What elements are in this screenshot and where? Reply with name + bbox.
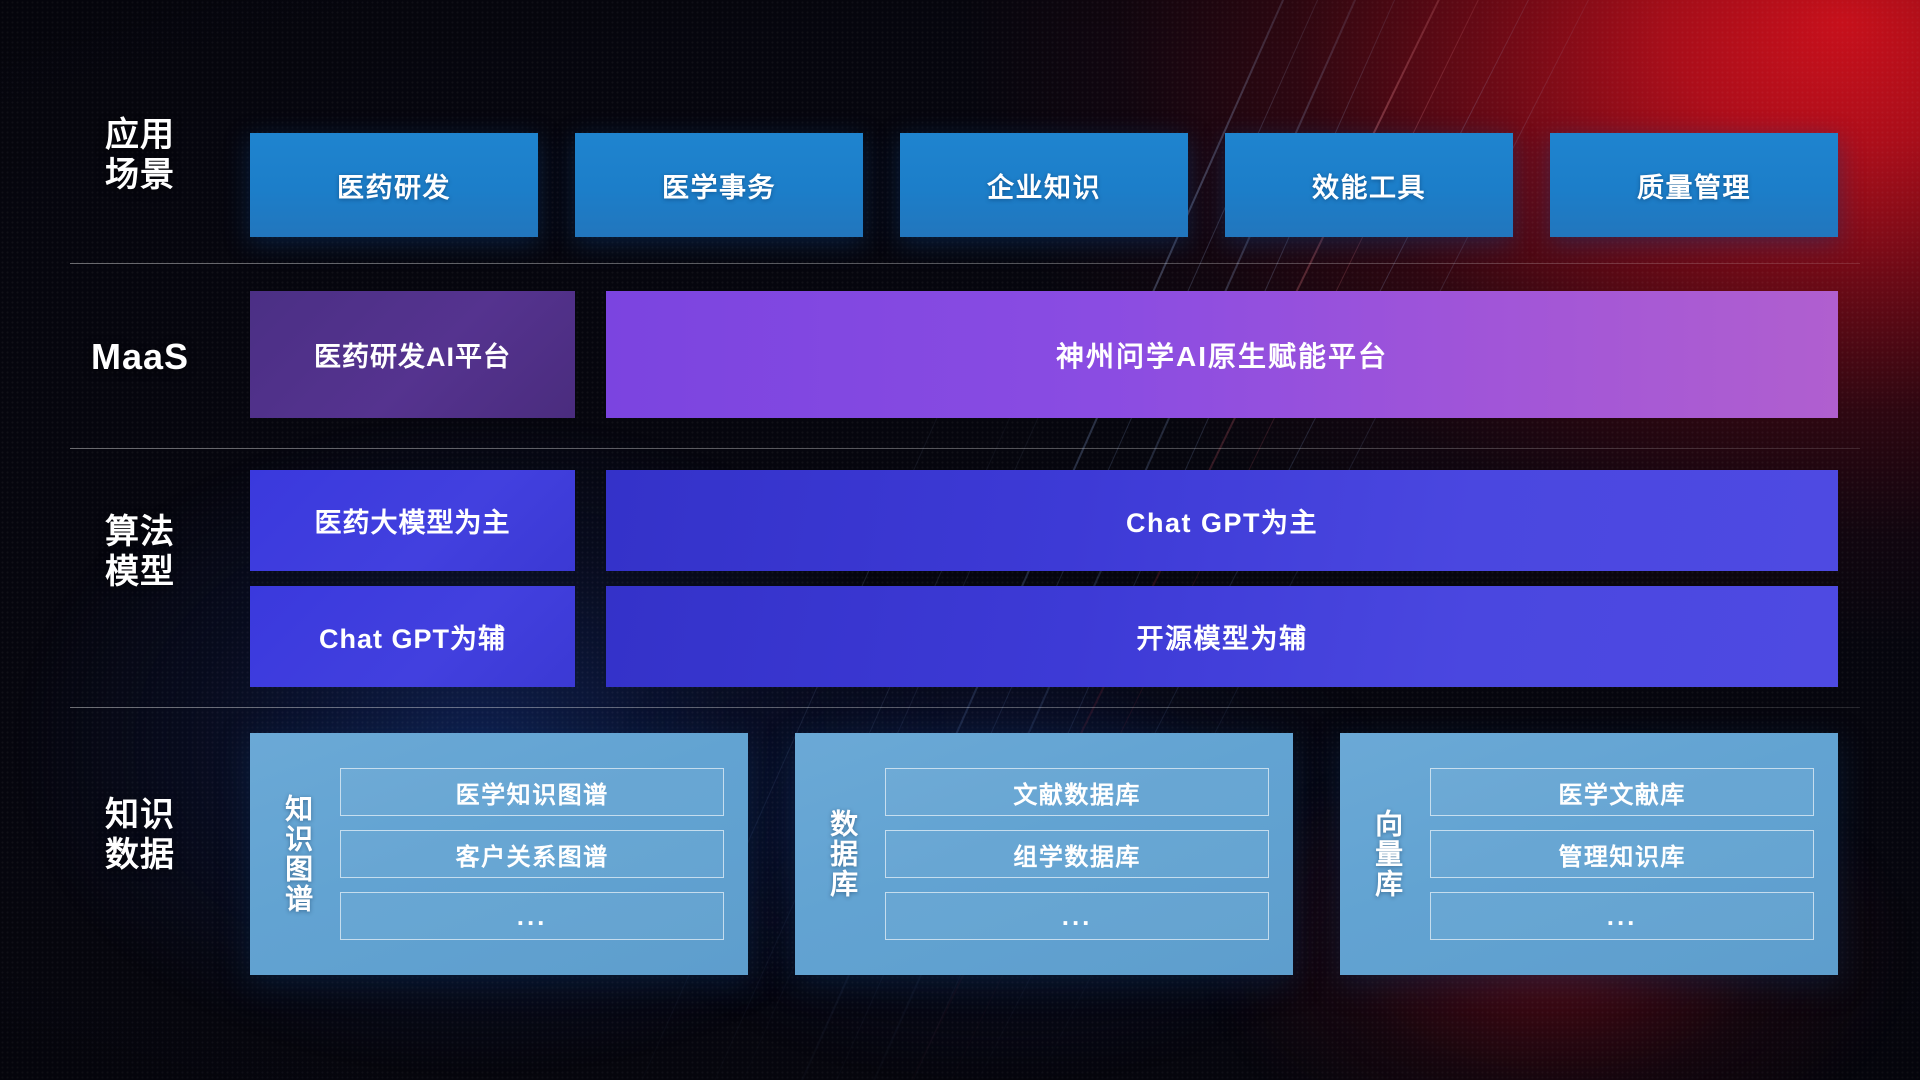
knowledge-item[interactable]: 医学文献库 [1430,768,1814,816]
knowledge-item-more[interactable]: ... [885,892,1269,940]
knowledge-item[interactable]: 管理知识库 [1430,830,1814,878]
app-scenario-label-5: 质量管理 [1637,166,1751,205]
architecture-diagram: 应用 场景 医药研发 医学事务 企业知识 效能工具 质量管理 MaaS 医药研发… [0,0,1920,1080]
algo-box-chatgpt-secondary[interactable]: Chat GPT为辅 [250,586,575,687]
app-scenario-box-1[interactable]: 医药研发 [250,133,538,237]
row-label-maas: MaaS [70,336,210,378]
app-scenario-label-1: 医药研发 [337,166,451,205]
knowledge-item[interactable]: 文献数据库 [885,768,1269,816]
knowledge-group-vector-store[interactable]: 向量库 医学文献库 管理知识库 ... [1340,733,1838,975]
knowledge-group-knowledge-graph[interactable]: 知识图谱 医学知识图谱 客户关系图谱 ... [250,733,748,975]
maas-box-label-2: 神州问学AI原生赋能平台 [1056,335,1388,375]
divider-after-algorithm-model [70,707,1860,708]
knowledge-item-more[interactable]: ... [1430,892,1814,940]
knowledge-item[interactable]: 客户关系图谱 [340,830,724,878]
knowledge-item-more[interactable]: ... [340,892,724,940]
algo-box-label-2: Chat GPT为主 [1126,501,1318,540]
app-scenario-label-3: 企业知识 [987,166,1101,205]
knowledge-group-title-2: 数据库 [825,809,859,899]
app-scenario-box-2[interactable]: 医学事务 [575,133,863,237]
row-label-knowledge-data: 知识 数据 [70,795,210,875]
knowledge-group-items-2: 文献数据库 组学数据库 ... [885,768,1269,940]
knowledge-group-database[interactable]: 数据库 文献数据库 组学数据库 ... [795,733,1293,975]
knowledge-item[interactable]: 组学数据库 [885,830,1269,878]
maas-box-pharma-ai-platform[interactable]: 医药研发AI平台 [250,291,575,418]
app-scenario-box-4[interactable]: 效能工具 [1225,133,1513,237]
algo-box-chatgpt-primary[interactable]: Chat GPT为主 [606,470,1838,571]
maas-box-shenzhou-platform[interactable]: 神州问学AI原生赋能平台 [606,291,1838,418]
app-scenario-label-2: 医学事务 [662,166,776,205]
app-scenario-box-3[interactable]: 企业知识 [900,133,1188,237]
knowledge-group-items-3: 医学文献库 管理知识库 ... [1430,768,1814,940]
row-label-algorithm-model: 算法 模型 [70,512,210,592]
algo-box-label-1: 医药大模型为主 [315,501,511,540]
knowledge-group-title-1: 知识图谱 [280,794,314,914]
knowledge-group-items-1: 医学知识图谱 客户关系图谱 ... [340,768,724,940]
app-scenario-label-4: 效能工具 [1312,166,1426,205]
app-scenario-box-5[interactable]: 质量管理 [1550,133,1838,237]
divider-after-application-scenario [70,263,1860,264]
algo-box-label-4: 开源模型为辅 [1137,617,1308,656]
maas-box-label-1: 医药研发AI平台 [314,335,511,374]
algo-box-label-3: Chat GPT为辅 [319,617,506,656]
row-label-application-scenario: 应用 场景 [70,115,210,195]
knowledge-item[interactable]: 医学知识图谱 [340,768,724,816]
divider-after-maas [70,448,1860,449]
knowledge-group-title-3: 向量库 [1370,809,1404,899]
algo-box-pharma-llm-primary[interactable]: 医药大模型为主 [250,470,575,571]
algo-box-opensource-secondary[interactable]: 开源模型为辅 [606,586,1838,687]
